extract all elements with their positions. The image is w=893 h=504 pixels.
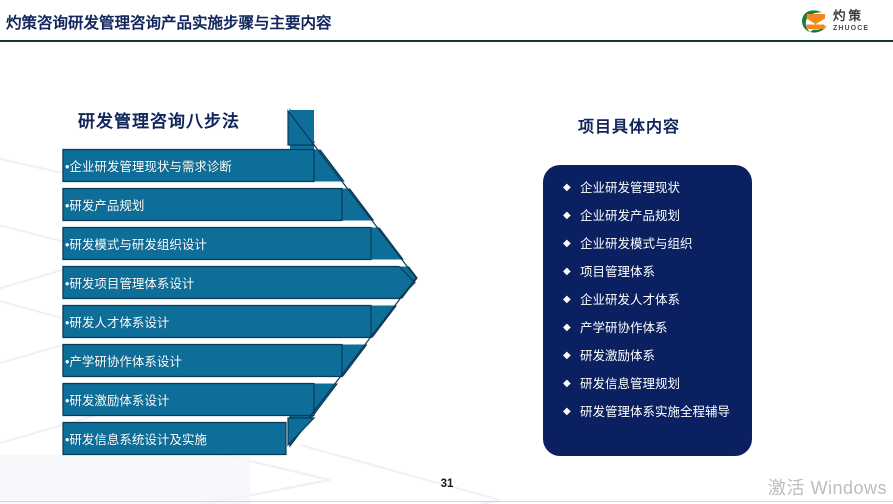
company-logo: 灼策 ZHUOCE [800,6,888,36]
bottom-divider [0,501,893,502]
step-label-8: •研发信息系统设计及实施 [65,429,207,448]
logo-name-en: ZHUOCE [833,25,869,32]
project-content-card: ◆ 企业研发管理现状 ◆ 企业研发产品规划 ◆ 企业研发模式与组织 ◆ 项目管理… [543,165,752,456]
step-text-7: 研发激励体系设计 [69,394,169,408]
diamond-bullet-icon: ◆ [563,398,580,426]
list-item-label: 项目管理体系 [580,258,655,286]
z-swoosh-logo-icon [800,8,830,34]
header-divider [0,40,893,42]
list-item-label: 研发管理体系实施全程辅导 [580,398,735,426]
step-label-1: •企业研发管理现状与需求诊断 [65,156,232,175]
step-text-1: 企业研发管理现状与需求诊断 [69,160,232,174]
diamond-bullet-icon: ◆ [563,370,580,398]
list-item-label: 企业研发产品规划 [580,202,680,230]
page-title: 灼策咨询研发管理咨询产品实施步骤与主要内容 [6,11,332,33]
page-number: 31 [435,478,459,490]
step-text-8: 研发信息系统设计及实施 [69,433,207,447]
step-label-7: •研发激励体系设计 [65,390,169,409]
windows-activation-watermark: 激活 Windows [768,474,887,500]
step-label-5: •研发人才体系设计 [65,312,169,331]
step-text-5: 研发人才体系设计 [69,316,169,330]
list-item-label: 研发激励体系 [580,342,655,370]
diamond-bullet-icon: ◆ [563,258,580,286]
step-text-6: 产学研协作体系设计 [69,355,182,369]
slide-canvas: 灼策咨询研发管理咨询产品实施步骤与主要内容 灼策 ZHUOCE 研发管理咨询八步… [0,0,893,504]
diamond-bullet-icon: ◆ [563,314,580,342]
list-item: ◆ 研发激励体系 [543,342,752,370]
list-item: ◆ 产学研协作体系 [543,314,752,342]
step-label-2: •研发产品规划 [65,195,144,214]
list-item: ◆ 研发管理体系实施全程辅导 [543,398,752,454]
right-panel-heading: 项目具体内容 [578,113,680,137]
logo-wordmark: 灼策 ZHUOCE [833,10,869,32]
list-item-label: 企业研发模式与组织 [580,230,693,258]
diamond-bullet-icon: ◆ [563,174,580,202]
step-label-3: •研发模式与研发组织设计 [65,234,207,253]
list-item: ◆ 项目管理体系 [543,258,752,286]
list-item-label: 企业研发管理现状 [580,174,680,202]
list-item-label: 研发信息管理规划 [580,370,680,398]
left-panel-heading: 研发管理咨询八步法 [78,107,240,132]
list-item: ◆ 企业研发人才体系 [543,286,752,314]
list-item: ◆ 企业研发产品规划 [543,202,752,230]
diamond-bullet-icon: ◆ [563,342,580,370]
diamond-bullet-icon: ◆ [563,230,580,258]
diamond-bullet-icon: ◆ [563,202,580,230]
step-label-6: •产学研协作体系设计 [65,351,182,370]
list-item-label: 产学研协作体系 [580,314,668,342]
diamond-bullet-icon: ◆ [563,286,580,314]
list-item: ◆ 企业研发模式与组织 [543,230,752,258]
step-text-2: 研发产品规划 [69,199,144,213]
list-item: ◆ 企业研发管理现状 [543,174,752,202]
step-label-4: •研发项目管理体系设计 [65,273,194,292]
slide-header: 灼策咨询研发管理咨询产品实施步骤与主要内容 [0,0,893,41]
logo-name-cn: 灼策 [833,10,864,23]
step-text-4: 研发项目管理体系设计 [69,277,194,291]
list-item-label: 企业研发人才体系 [580,286,680,314]
step-text-3: 研发模式与研发组织设计 [69,238,207,252]
list-item: ◆ 研发信息管理规划 [543,370,752,398]
